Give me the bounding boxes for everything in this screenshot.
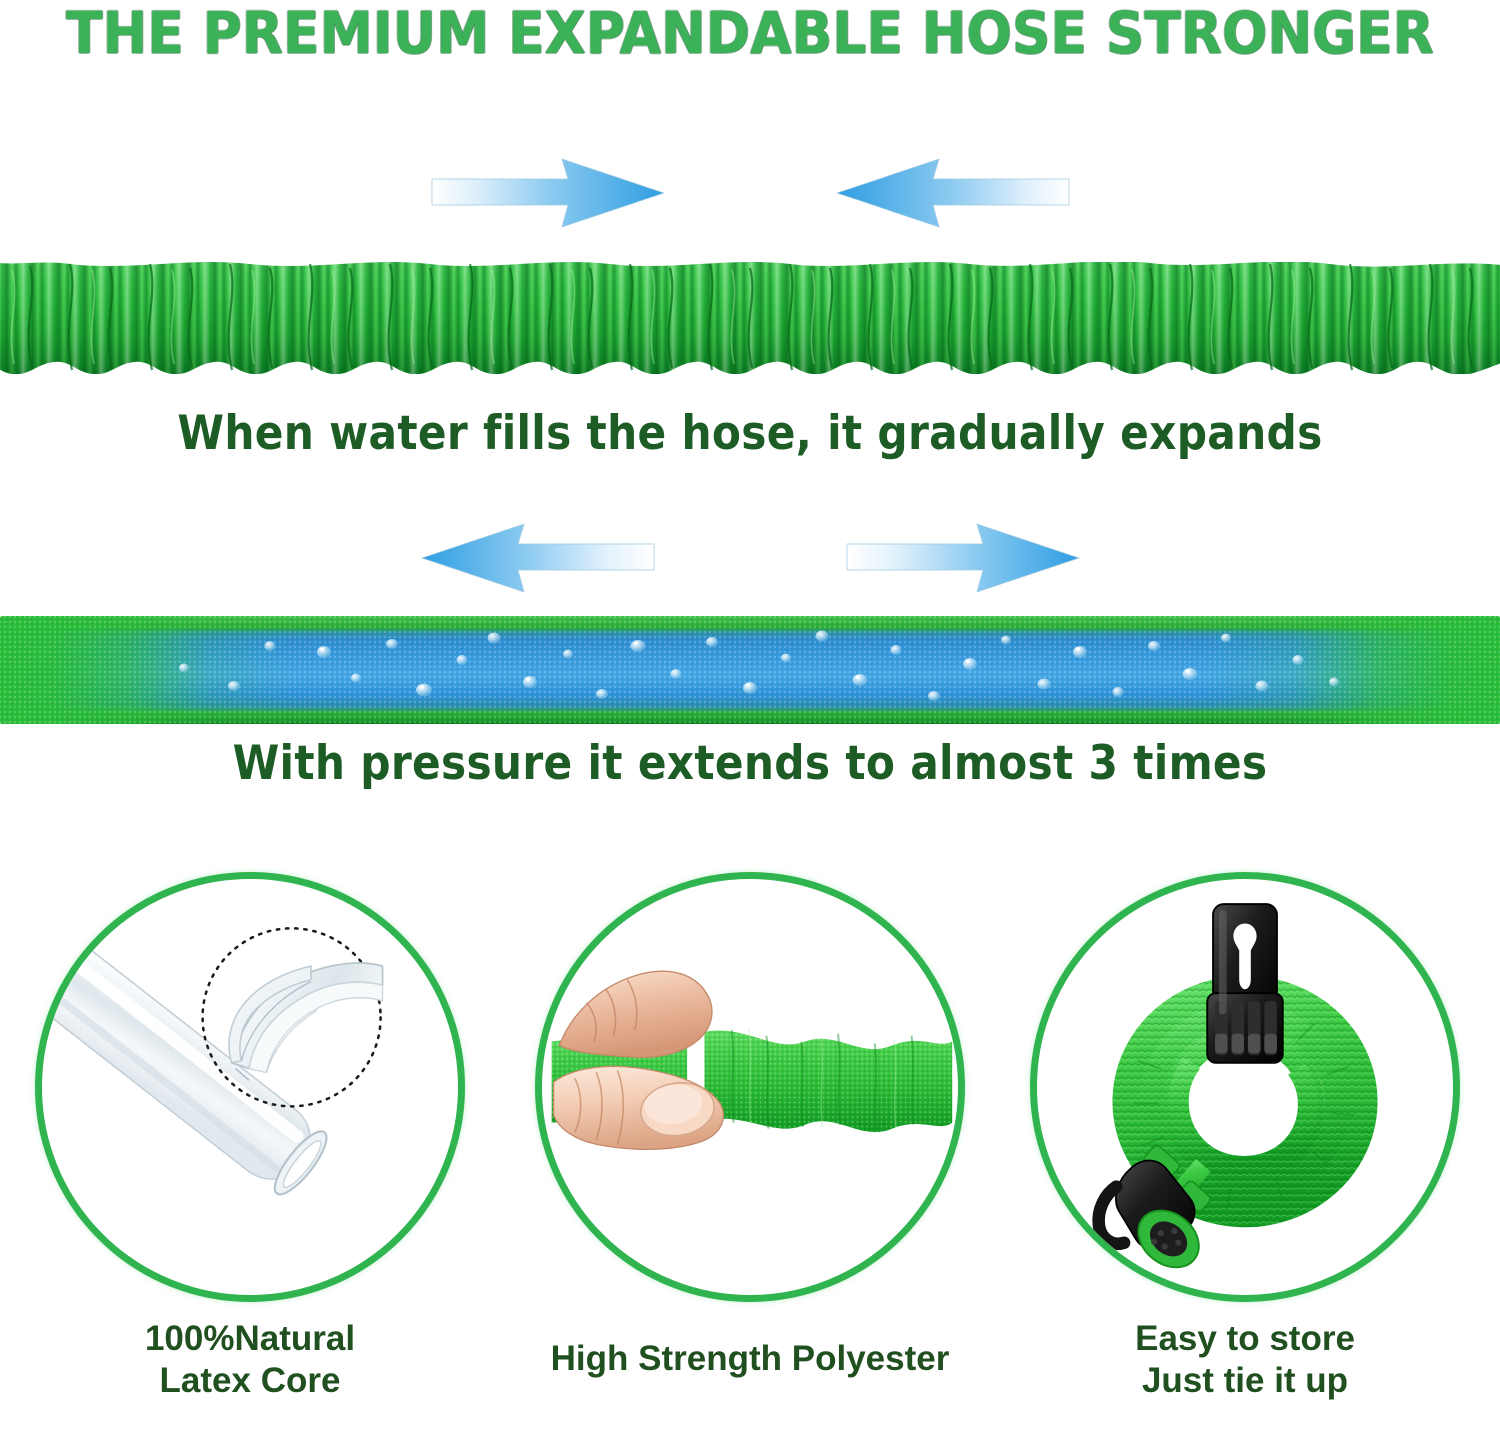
arrow-left-icon: [420, 512, 656, 604]
clear-latex-tube-icon: [35, 872, 465, 1302]
hose-expanded-image: [0, 612, 1500, 728]
water-droplets-icon: [0, 616, 1500, 724]
feature-label: Easy to store Just tie it up: [1010, 1318, 1480, 1402]
caption-water-fills: When water fills the hose, it gradually …: [0, 408, 1500, 460]
arrow-right-icon: [845, 512, 1081, 604]
feature-label: 100%Natural Latex Core: [15, 1318, 485, 1402]
hose-contracted-image: [0, 256, 1500, 382]
feature-label: High Strength Polyester: [515, 1338, 985, 1380]
feature-latex-core: 100%Natural Latex Core: [15, 872, 485, 1402]
hand-gripping-hose-icon: [535, 872, 965, 1302]
hose-pleat-texture: [0, 256, 1500, 382]
coiled-hose-hanger-icon: [1030, 872, 1460, 1302]
page-title: THE PREMIUM EXPANDABLE HOSE STRONGER: [0, 2, 1500, 64]
feature-polyester: High Strength Polyester: [515, 872, 985, 1380]
feature-easy-store: Easy to store Just tie it up: [1010, 872, 1480, 1402]
feature-row: 100%Natural Latex Core: [0, 872, 1500, 1433]
arrow-right-icon: [430, 147, 666, 239]
infographic-page: THE PREMIUM EXPANDABLE HOSE STRONGER: [0, 0, 1500, 1433]
arrow-left-icon: [835, 147, 1071, 239]
caption-extends-three-times: With pressure it extends to almost 3 tim…: [0, 738, 1500, 790]
